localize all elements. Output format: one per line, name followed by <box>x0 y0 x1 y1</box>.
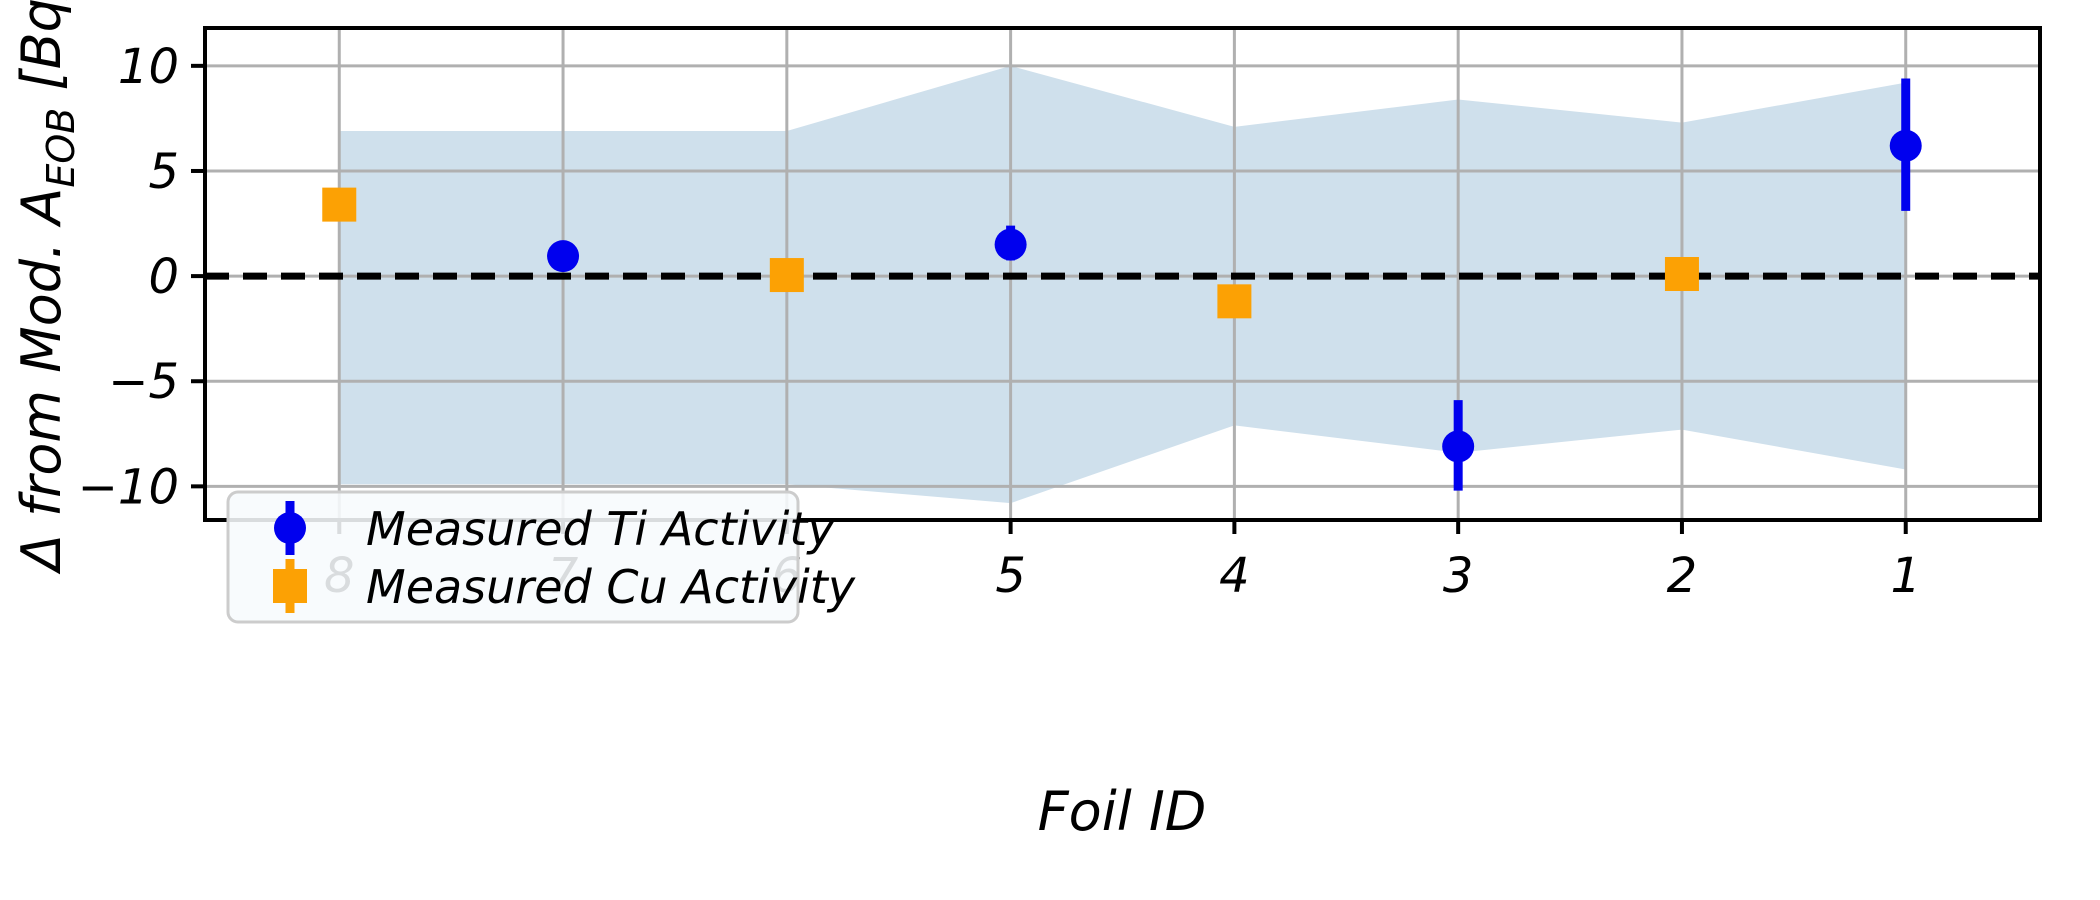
x-tick-label-3: 5 <box>995 548 1026 604</box>
x-tick-label-5: 3 <box>1443 548 1474 604</box>
legend-label: Measured Cu Activity <box>366 560 856 614</box>
data-point-circle[interactable] <box>1890 130 1922 162</box>
y-axis-label-units: [Bq] <box>10 0 73 108</box>
data-point-square[interactable] <box>770 258 804 292</box>
data-point-circle[interactable] <box>547 240 579 272</box>
chart-figure: 1050−5−1087654321 Δ from Mod. AEOB [Bq] … <box>0 0 2100 900</box>
y-axis-label: Δ from Mod. AEOB [Bq] <box>10 0 83 575</box>
svg-text:Δ from Mod. AEOB [Bq]: Δ from Mod. AEOB [Bq] <box>10 0 83 575</box>
y-axis-label-subscript: EOB <box>39 108 83 188</box>
chart-svg: 1050−5−1087654321 Δ from Mod. AEOB [Bq] … <box>0 0 2100 900</box>
x-tick-label-4: 4 <box>1219 548 1250 604</box>
y-axis-label-main: Δ from Mod. A <box>10 188 73 575</box>
y-tick-label-4: −10 <box>78 459 179 515</box>
legend-marker-circle <box>274 512 306 544</box>
x-tick-label-7: 1 <box>1890 548 1921 604</box>
figure-root: 1050−5−1087654321 Δ from Mod. AEOB [Bq] … <box>0 0 2100 900</box>
data-point-square[interactable] <box>1217 284 1251 318</box>
y-tick-label-3: −5 <box>108 354 179 410</box>
legend-marker-square <box>273 569 307 603</box>
data-point-square[interactable] <box>322 188 356 222</box>
chart-legend[interactable]: Measured Ti ActivityMeasured Cu Activity <box>228 492 856 622</box>
x-tick-label-6: 2 <box>1667 548 1698 604</box>
data-point-square[interactable] <box>1665 257 1699 291</box>
data-point-circle[interactable] <box>995 229 1027 261</box>
data-point-circle[interactable] <box>1442 430 1474 462</box>
x-axis-label: Foil ID <box>1038 780 1207 843</box>
legend-label: Measured Ti Activity <box>366 502 835 556</box>
y-tick-label-2: 0 <box>148 249 179 305</box>
y-tick-label-1: 5 <box>148 144 179 200</box>
y-tick-label-0: 10 <box>118 39 179 95</box>
